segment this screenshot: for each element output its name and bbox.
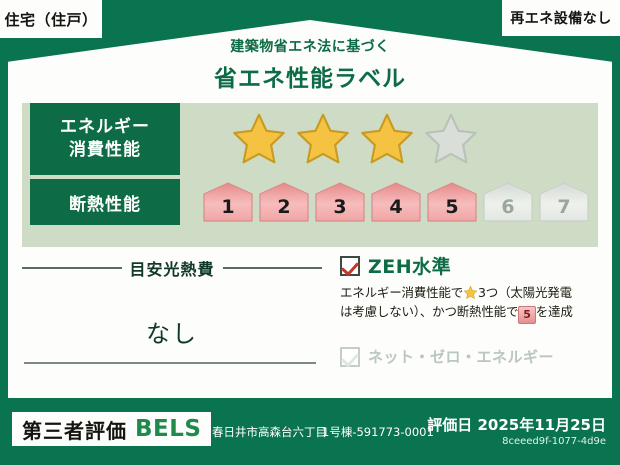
evaluation-id: 8ceeed9f-1077-4d9e <box>502 436 606 447</box>
insulation-level-number: 5 <box>445 196 458 223</box>
renewable-energy-tag: 再エネ設備なし <box>502 0 620 36</box>
bels-jp-text: 第三者評価 <box>22 415 127 444</box>
label-title-block: 建築物省エネ法に基づく 省エネ性能ラベル <box>0 36 620 93</box>
net-zero-energy-checkbox[interactable] <box>340 347 360 367</box>
energy-performance-label: エネルギー 消費性能 <box>30 103 180 175</box>
insulation-level-number: 7 <box>557 196 570 223</box>
zeh-checkbox[interactable] <box>340 256 360 276</box>
property-address: 春日井市高森台六丁目 <box>212 424 327 440</box>
insulation-performance-row: 断熱性能 1234567 <box>22 179 598 225</box>
footer-bar: 第三者評価 BELS 春日井市高森台六丁目 1号棟-591773-0001 評価… <box>0 400 620 465</box>
energy-performance-row: エネルギー 消費性能 <box>22 103 598 175</box>
bels-label-root: 住宅（住戸） 再エネ設備なし 建築物省エネ法に基づく 省エネ性能ラベル エネルギ… <box>0 0 620 465</box>
zeh-desc-part1: エネルギー消費性能で <box>340 285 463 300</box>
insulation-performance-label: 断熱性能 <box>30 179 180 225</box>
zeh-desc-part3: を達成 <box>536 304 573 319</box>
bels-certification-badge: 第三者評価 BELS <box>12 412 211 446</box>
utility-cost-title: 目安光熱費 <box>130 256 215 280</box>
building-number: 1号棟-591773-0001 <box>322 424 434 440</box>
star-empty-icon <box>422 111 480 167</box>
rule-right <box>223 267 323 269</box>
zeh-header: ZEH水準 <box>340 252 602 279</box>
star-filled-icon <box>230 111 288 167</box>
insulation-level-number: 1 <box>221 196 234 223</box>
zeh-title: ZEH水準 <box>368 252 451 279</box>
net-zero-energy-row: ネット・ゼロ・エネルギー <box>340 346 602 367</box>
insulation-level-1: 1 <box>202 181 254 223</box>
bels-en-text: BELS <box>135 416 201 442</box>
insulation-level-2: 2 <box>258 181 310 223</box>
title-subtitle: 建築物省エネ法に基づく <box>0 36 620 56</box>
utility-cost-value: なし <box>22 314 322 349</box>
insulation-level-number: 4 <box>389 196 402 223</box>
insulation-level-scale: 1234567 <box>202 181 590 223</box>
insulation-level-3: 3 <box>314 181 366 223</box>
lower-section: 目安光熱費 なし ZEH水準 エネルギー消費性能で3つ（太陽光発電は考慮しない）… <box>22 252 598 392</box>
zeh-block: ZEH水準 エネルギー消費性能で3つ（太陽光発電は考慮しない）、かつ断熱性能で5… <box>340 252 602 367</box>
star-rating <box>230 111 480 167</box>
utility-cost-block: 目安光熱費 なし <box>22 252 322 349</box>
insulation-level-5: 5 <box>426 181 478 223</box>
zeh-desc-starcount: 3つ（太陽光発電 <box>478 285 572 300</box>
star-filled-icon <box>358 111 416 167</box>
insulation-level-number: 3 <box>333 196 346 223</box>
insulation-level-number: 6 <box>501 196 514 223</box>
energy-label-line1: エネルギー <box>60 116 150 139</box>
insulation-level-7: 7 <box>538 181 590 223</box>
rule-left <box>22 267 122 269</box>
inline-star-icon <box>463 285 478 300</box>
insulation-level-number: 2 <box>277 196 290 223</box>
net-zero-energy-label: ネット・ゼロ・エネルギー <box>368 346 554 367</box>
insulation-level-4: 4 <box>370 181 422 223</box>
dwelling-type-tag: 住宅（住戸） <box>0 0 102 38</box>
insulation-level-6: 6 <box>482 181 534 223</box>
zeh-desc-level-badge: 5 <box>518 306 535 325</box>
utility-cost-underline <box>24 362 316 364</box>
utility-cost-header: 目安光熱費 <box>22 256 322 280</box>
rating-panel: エネルギー 消費性能 断熱性能 1234567 <box>22 103 598 247</box>
zeh-desc-part2: は考慮しない）、かつ断熱性能で <box>340 304 518 319</box>
title-main: 省エネ性能ラベル <box>0 59 620 93</box>
evaluation-date: 評価日 2025年11月25日 <box>427 414 606 435</box>
star-filled-icon <box>294 111 352 167</box>
zeh-description: エネルギー消費性能で3つ（太陽光発電は考慮しない）、かつ断熱性能で5を達成 <box>340 284 602 324</box>
energy-label-line2: 消費性能 <box>69 139 141 162</box>
